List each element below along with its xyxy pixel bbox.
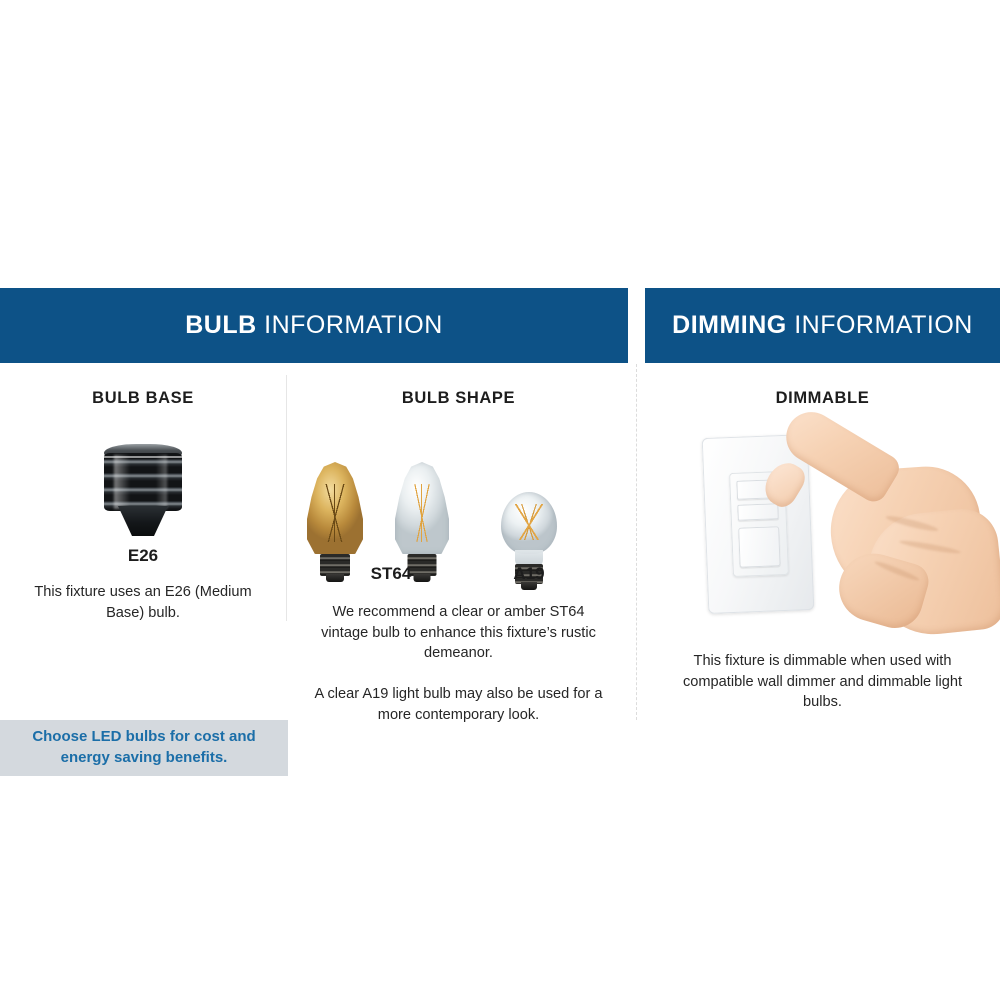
panel-vertical-divider [636,364,637,720]
bulb-label-st64: ST64 [351,564,431,584]
wall-dimmer-switch-with-hand-icon [645,424,1000,639]
bulb-base-title: BULB BASE [0,389,286,408]
dimmable-title: DIMMABLE [645,389,1000,408]
bulb-base-column: BULB BASE E26 This fixture uses an E26 (… [0,363,286,623]
bulb-header-light: INFORMATION [264,311,443,339]
st64-clear-bulb-icon [395,462,449,554]
dimming-header-light: INFORMATION [794,311,973,339]
column-divider [286,375,287,621]
a19-clear-bulb-icon [501,492,557,554]
dimming-information-header: DIMMING INFORMATION [645,288,1000,363]
bulb-shape-illustrations [289,424,628,554]
dimming-header-strong: DIMMING [672,311,787,339]
bulb-shape-paragraph-1: We recommend a clear or amber ST64 vinta… [313,602,604,664]
bulb-information-panel: BULB INFORMATION BULB BASE [0,288,628,723]
led-callout-box: Choose LED bulbs for cost and energy sav… [0,720,288,776]
bulb-shape-labels: ST64 A19 [289,564,628,588]
bulb-shape-paragraph-2: A clear A19 light bulb may also be used … [311,684,606,725]
bulb-shape-title: BULB SHAPE [289,389,628,408]
hand-illustration [773,460,1000,638]
bulb-base-description: This fixture uses an E26 (Medium Base) b… [22,582,264,623]
bulb-information-header: BULB INFORMATION [0,288,628,363]
dimmable-description: This fixture is dimmable when used with … [675,651,970,713]
dimming-information-body: DIMMABLE [645,389,1000,713]
bulb-shape-column: BULB SHAPE ST6 [289,363,628,726]
e26-screw-base-icon [0,428,286,540]
bulb-and-dimming-info-graphic: BULB INFORMATION BULB BASE [0,0,1000,1000]
bulb-base-item-label: E26 [0,546,286,566]
led-callout-text: Choose LED bulbs for cost and energy sav… [0,727,288,768]
st64-amber-bulb-icon [307,462,363,554]
bulb-information-body: BULB BASE E26 This fixture uses an E26 (… [0,363,628,723]
bulb-label-a19: A19 [489,564,569,584]
dimming-information-panel: DIMMING INFORMATION DIMMABLE [645,288,1000,713]
bulb-header-strong: BULB [185,311,256,339]
